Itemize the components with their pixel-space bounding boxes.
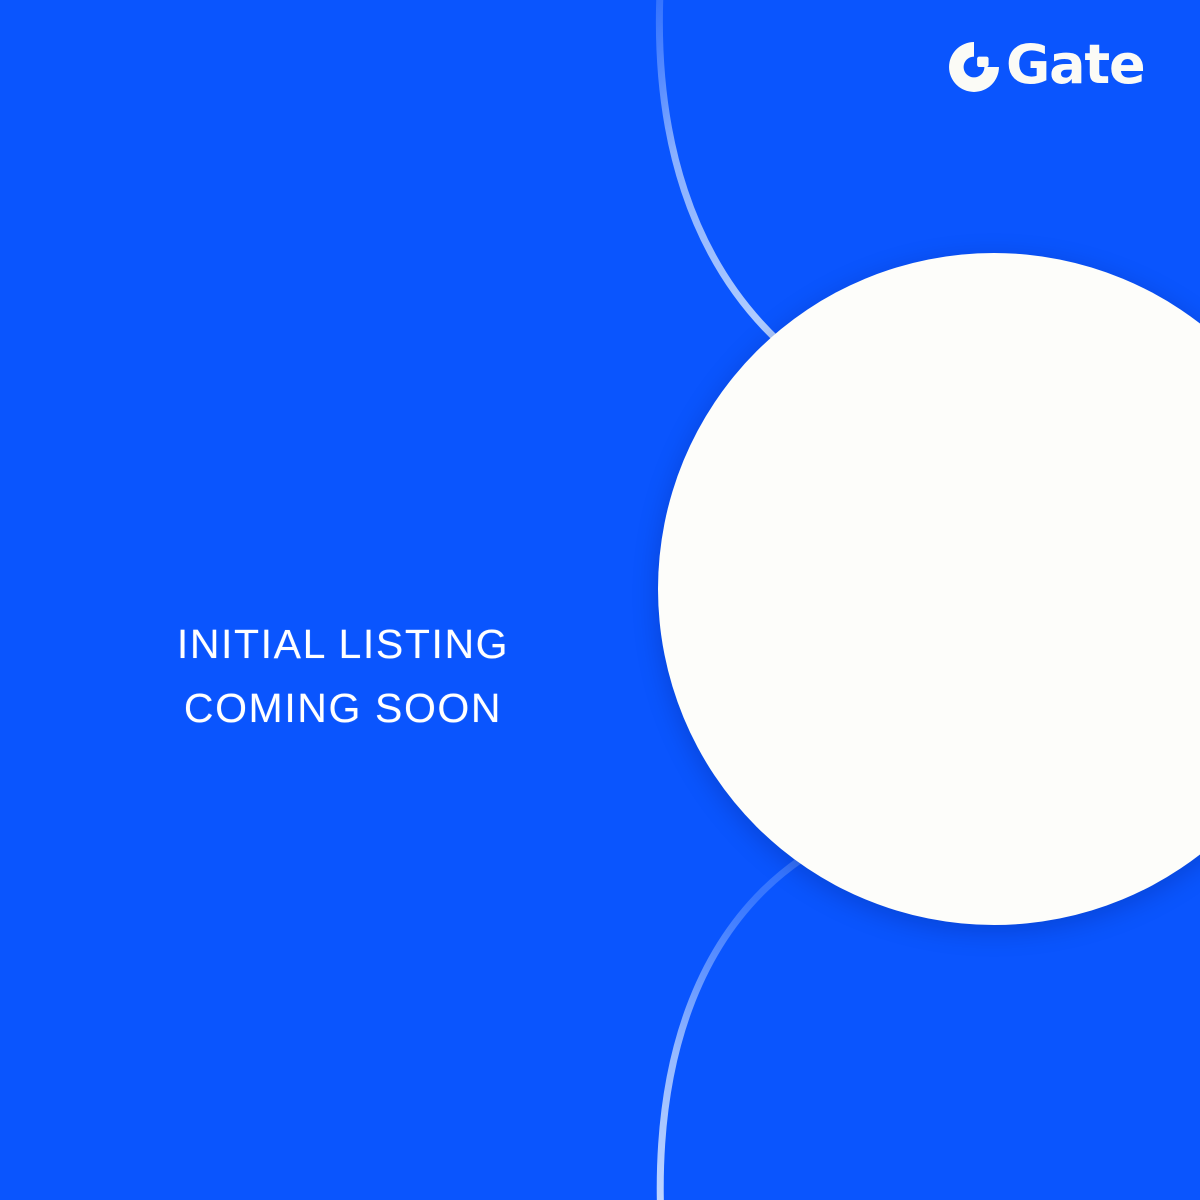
gate-wordmark: Gate — [1006, 38, 1144, 96]
decorative-arc-bottom — [660, 860, 800, 1200]
announcement-text: INITIAL LISTING COMING SOON — [0, 612, 686, 740]
gate-circle-mark-icon — [948, 41, 1000, 93]
gate-logo: Gate — [948, 38, 1144, 96]
hero-white-circle — [658, 253, 1200, 925]
promo-banner: INITIAL LISTING COMING SOON Gate — [0, 0, 1200, 1200]
announcement-line-1: INITIAL LISTING — [0, 612, 686, 676]
announcement-line-2: COMING SOON — [0, 676, 686, 740]
decorative-arc-top — [659, 0, 800, 360]
